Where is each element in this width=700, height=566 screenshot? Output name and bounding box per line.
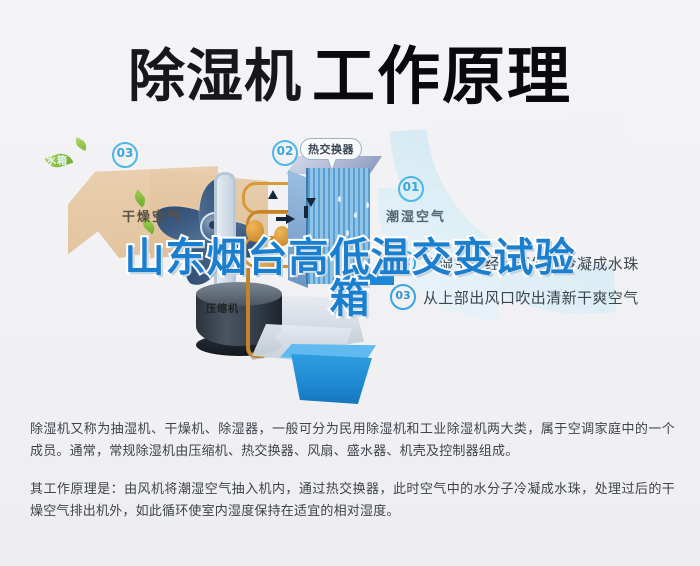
callout-badge-02: 02: [272, 140, 298, 166]
leaf-icon: [73, 137, 89, 151]
heat-exchanger-fins: [306, 168, 370, 284]
water-droplet: [366, 202, 369, 208]
paragraph-1: 除湿机又称为抽湿机、干燥机、除湿器，一般可分为民用除湿机和工业除湿机两大类，属于…: [30, 418, 675, 462]
water-tank-body: [284, 354, 372, 404]
heat-exchanger: [288, 156, 378, 288]
water-droplet: [346, 230, 349, 236]
water-droplet: [354, 212, 357, 218]
flow-arrow-right-icon: [286, 214, 295, 224]
paragraph-2: 其工作原理是：由风机将潮湿空气抽入机内，通过热交换器，此时空气中的水分子冷凝成水…: [30, 478, 675, 522]
air-intake-arrow-icon: [332, 270, 394, 288]
legend-list: 02 潮湿空气经过蒸发器冷凝成水珠 03 从上部出风口吹出清新干爽空气: [390, 246, 690, 314]
water-droplet: [338, 196, 341, 202]
coil-bulb: [246, 220, 264, 242]
body-copy: 除湿机又称为抽湿机、干燥机、除湿器，一般可分为民用除湿机和工业除湿机两大类，属于…: [30, 418, 675, 522]
water-tank-label: 水箱: [46, 152, 68, 167]
arrow-shaft: [348, 274, 394, 285]
callout-badge-03: 03: [112, 142, 138, 168]
legend-item: 03 从上部出风口吹出清新干爽空气: [390, 280, 690, 314]
water-droplet: [374, 238, 377, 244]
humid-air-label: 潮湿空气: [386, 206, 446, 225]
legend-badge-03: 03: [390, 284, 416, 310]
page-title: 除湿机工作原理: [0, 26, 700, 117]
legend-item-text: 从上部出风口吹出清新干爽空气: [423, 287, 639, 308]
dry-air-label: 干燥空气: [122, 206, 182, 225]
flow-arrow-stem: [304, 206, 308, 218]
poster-root: 除湿机工作原理: [0, 0, 700, 566]
compressor-label: 压缩机: [206, 300, 239, 315]
water-droplet: [338, 254, 341, 260]
legend-item-text: 潮湿空气经过蒸发器冷凝成水珠: [423, 253, 639, 274]
flow-arrow-down-icon: [306, 198, 316, 207]
callout-badge-01: 01: [398, 176, 424, 202]
page-title-part2: 工作原理: [312, 42, 572, 112]
legend-badge-02: 02: [390, 250, 416, 276]
water-tank: [280, 344, 376, 406]
heat-exchanger-side: [288, 170, 308, 288]
page-title-part1: 除湿机: [128, 45, 302, 109]
flow-arrow-up-icon: [268, 190, 278, 199]
heat-exchanger-callout-bubble: 热交换器: [300, 138, 362, 160]
legend-item: 02 潮湿空气经过蒸发器冷凝成水珠: [390, 246, 690, 280]
refrigerant-pipe: [214, 172, 236, 287]
